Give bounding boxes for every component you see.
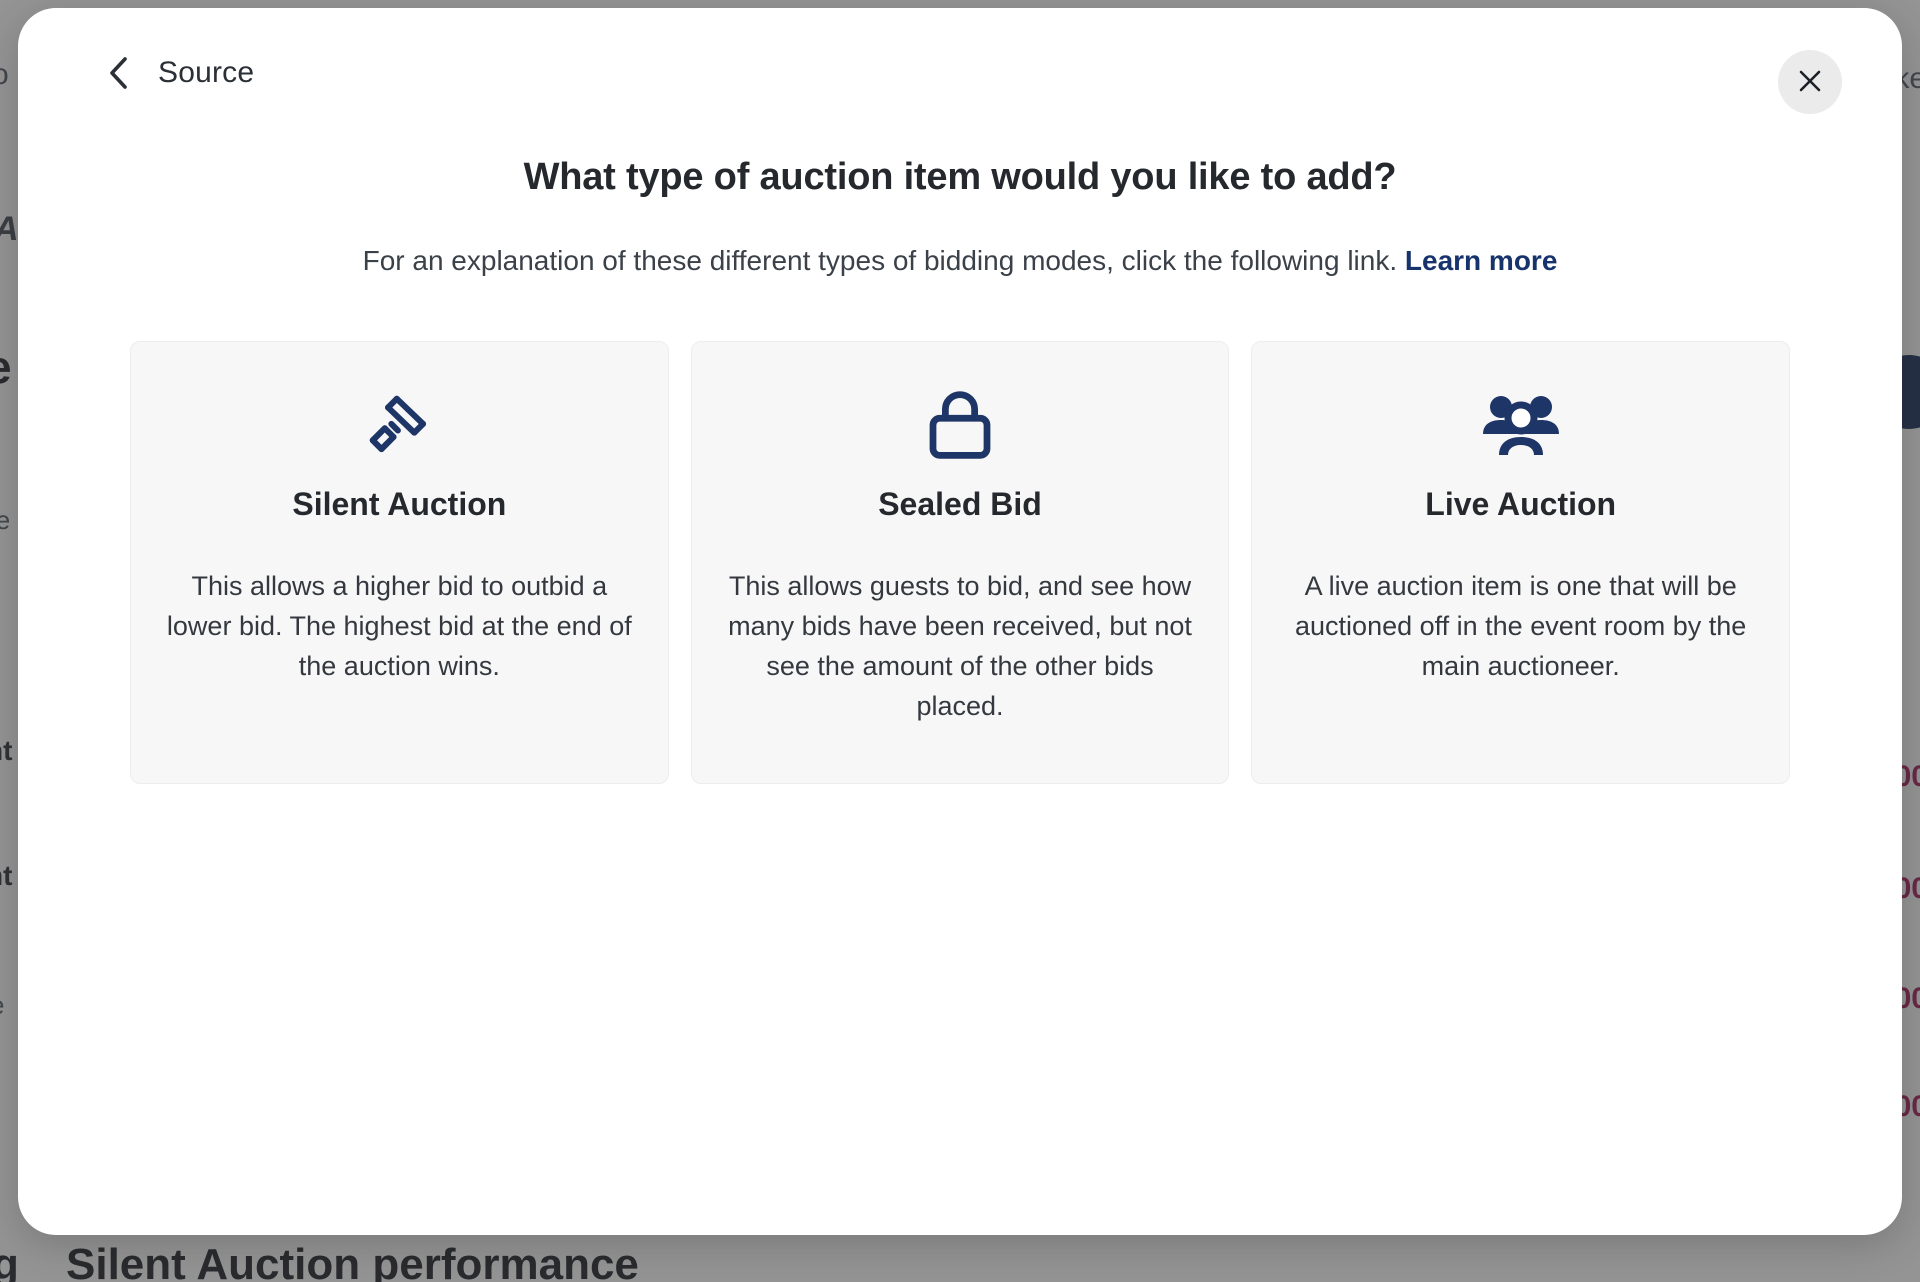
auction-type-card-silent-auction[interactable]: Silent Auction This allows a higher bid … [130, 341, 669, 784]
auction-type-card-description: This allows a higher bid to outbid a low… [161, 567, 638, 687]
auction-type-modal: Source What type of auction item would y… [18, 8, 1902, 1235]
back-button[interactable]: Source [106, 56, 254, 90]
auction-type-card-list: Silent Auction This allows a higher bid … [18, 341, 1902, 784]
users-group-icon [1282, 386, 1759, 464]
modal-subtitle: For an explanation of these different ty… [18, 245, 1902, 277]
auction-type-card-description: This allows guests to bid, and see how m… [722, 567, 1199, 727]
modal-header: Source [18, 8, 1902, 128]
learn-more-link[interactable]: Learn more [1405, 245, 1558, 276]
auction-type-card-live-auction[interactable]: Live Auction A live auction item is one … [1251, 341, 1790, 784]
page-title: What type of auction item would you like… [18, 156, 1902, 199]
auction-type-card-title: Sealed Bid [722, 486, 1199, 523]
chevron-left-icon [106, 56, 132, 90]
auction-type-card-description: A live auction item is one that will be … [1282, 567, 1759, 687]
auction-type-card-title: Silent Auction [161, 486, 638, 523]
auction-type-card-title: Live Auction [1282, 486, 1759, 523]
back-button-label: Source [158, 56, 254, 90]
gavel-icon [161, 386, 638, 464]
auction-type-card-sealed-bid[interactable]: Sealed Bid This allows guests to bid, an… [691, 341, 1230, 784]
close-icon [1796, 67, 1824, 98]
app-root: o A e le nt nt e ke 00 00 00 00 g Silent… [0, 0, 1920, 1282]
modal-subtitle-text: For an explanation of these different ty… [363, 245, 1398, 276]
close-button[interactable] [1778, 50, 1842, 114]
lock-icon [722, 386, 1199, 464]
